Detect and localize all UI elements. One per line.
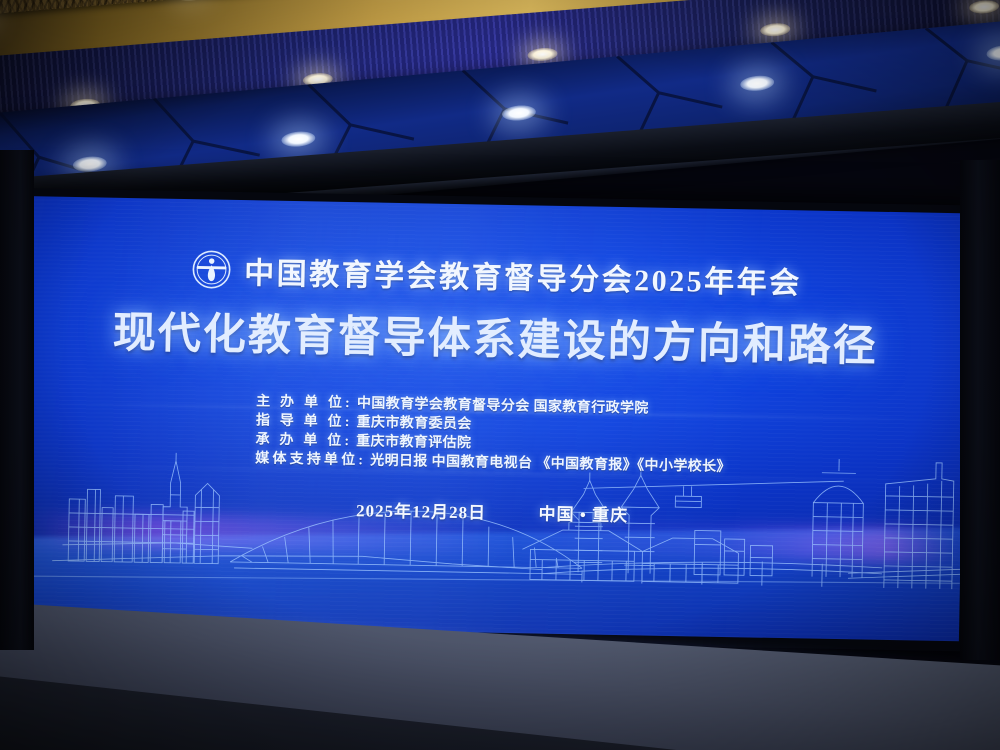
conference-stage-scene: 中国教育学会教育督导分会2025年年会 现代化教育督导体系建设的方向和路径 主 … xyxy=(0,0,1000,750)
left-wall xyxy=(0,150,34,650)
led-screen-display: 中国教育学会教育督导分会2025年年会 现代化教育督导体系建设的方向和路径 主 … xyxy=(21,196,967,641)
led-pixel-scanlines xyxy=(21,196,967,641)
right-wall xyxy=(960,160,1000,660)
led-screen-frame: 中国教育学会教育督导分会2025年年会 现代化教育督导体系建设的方向和路径 主 … xyxy=(12,188,976,651)
